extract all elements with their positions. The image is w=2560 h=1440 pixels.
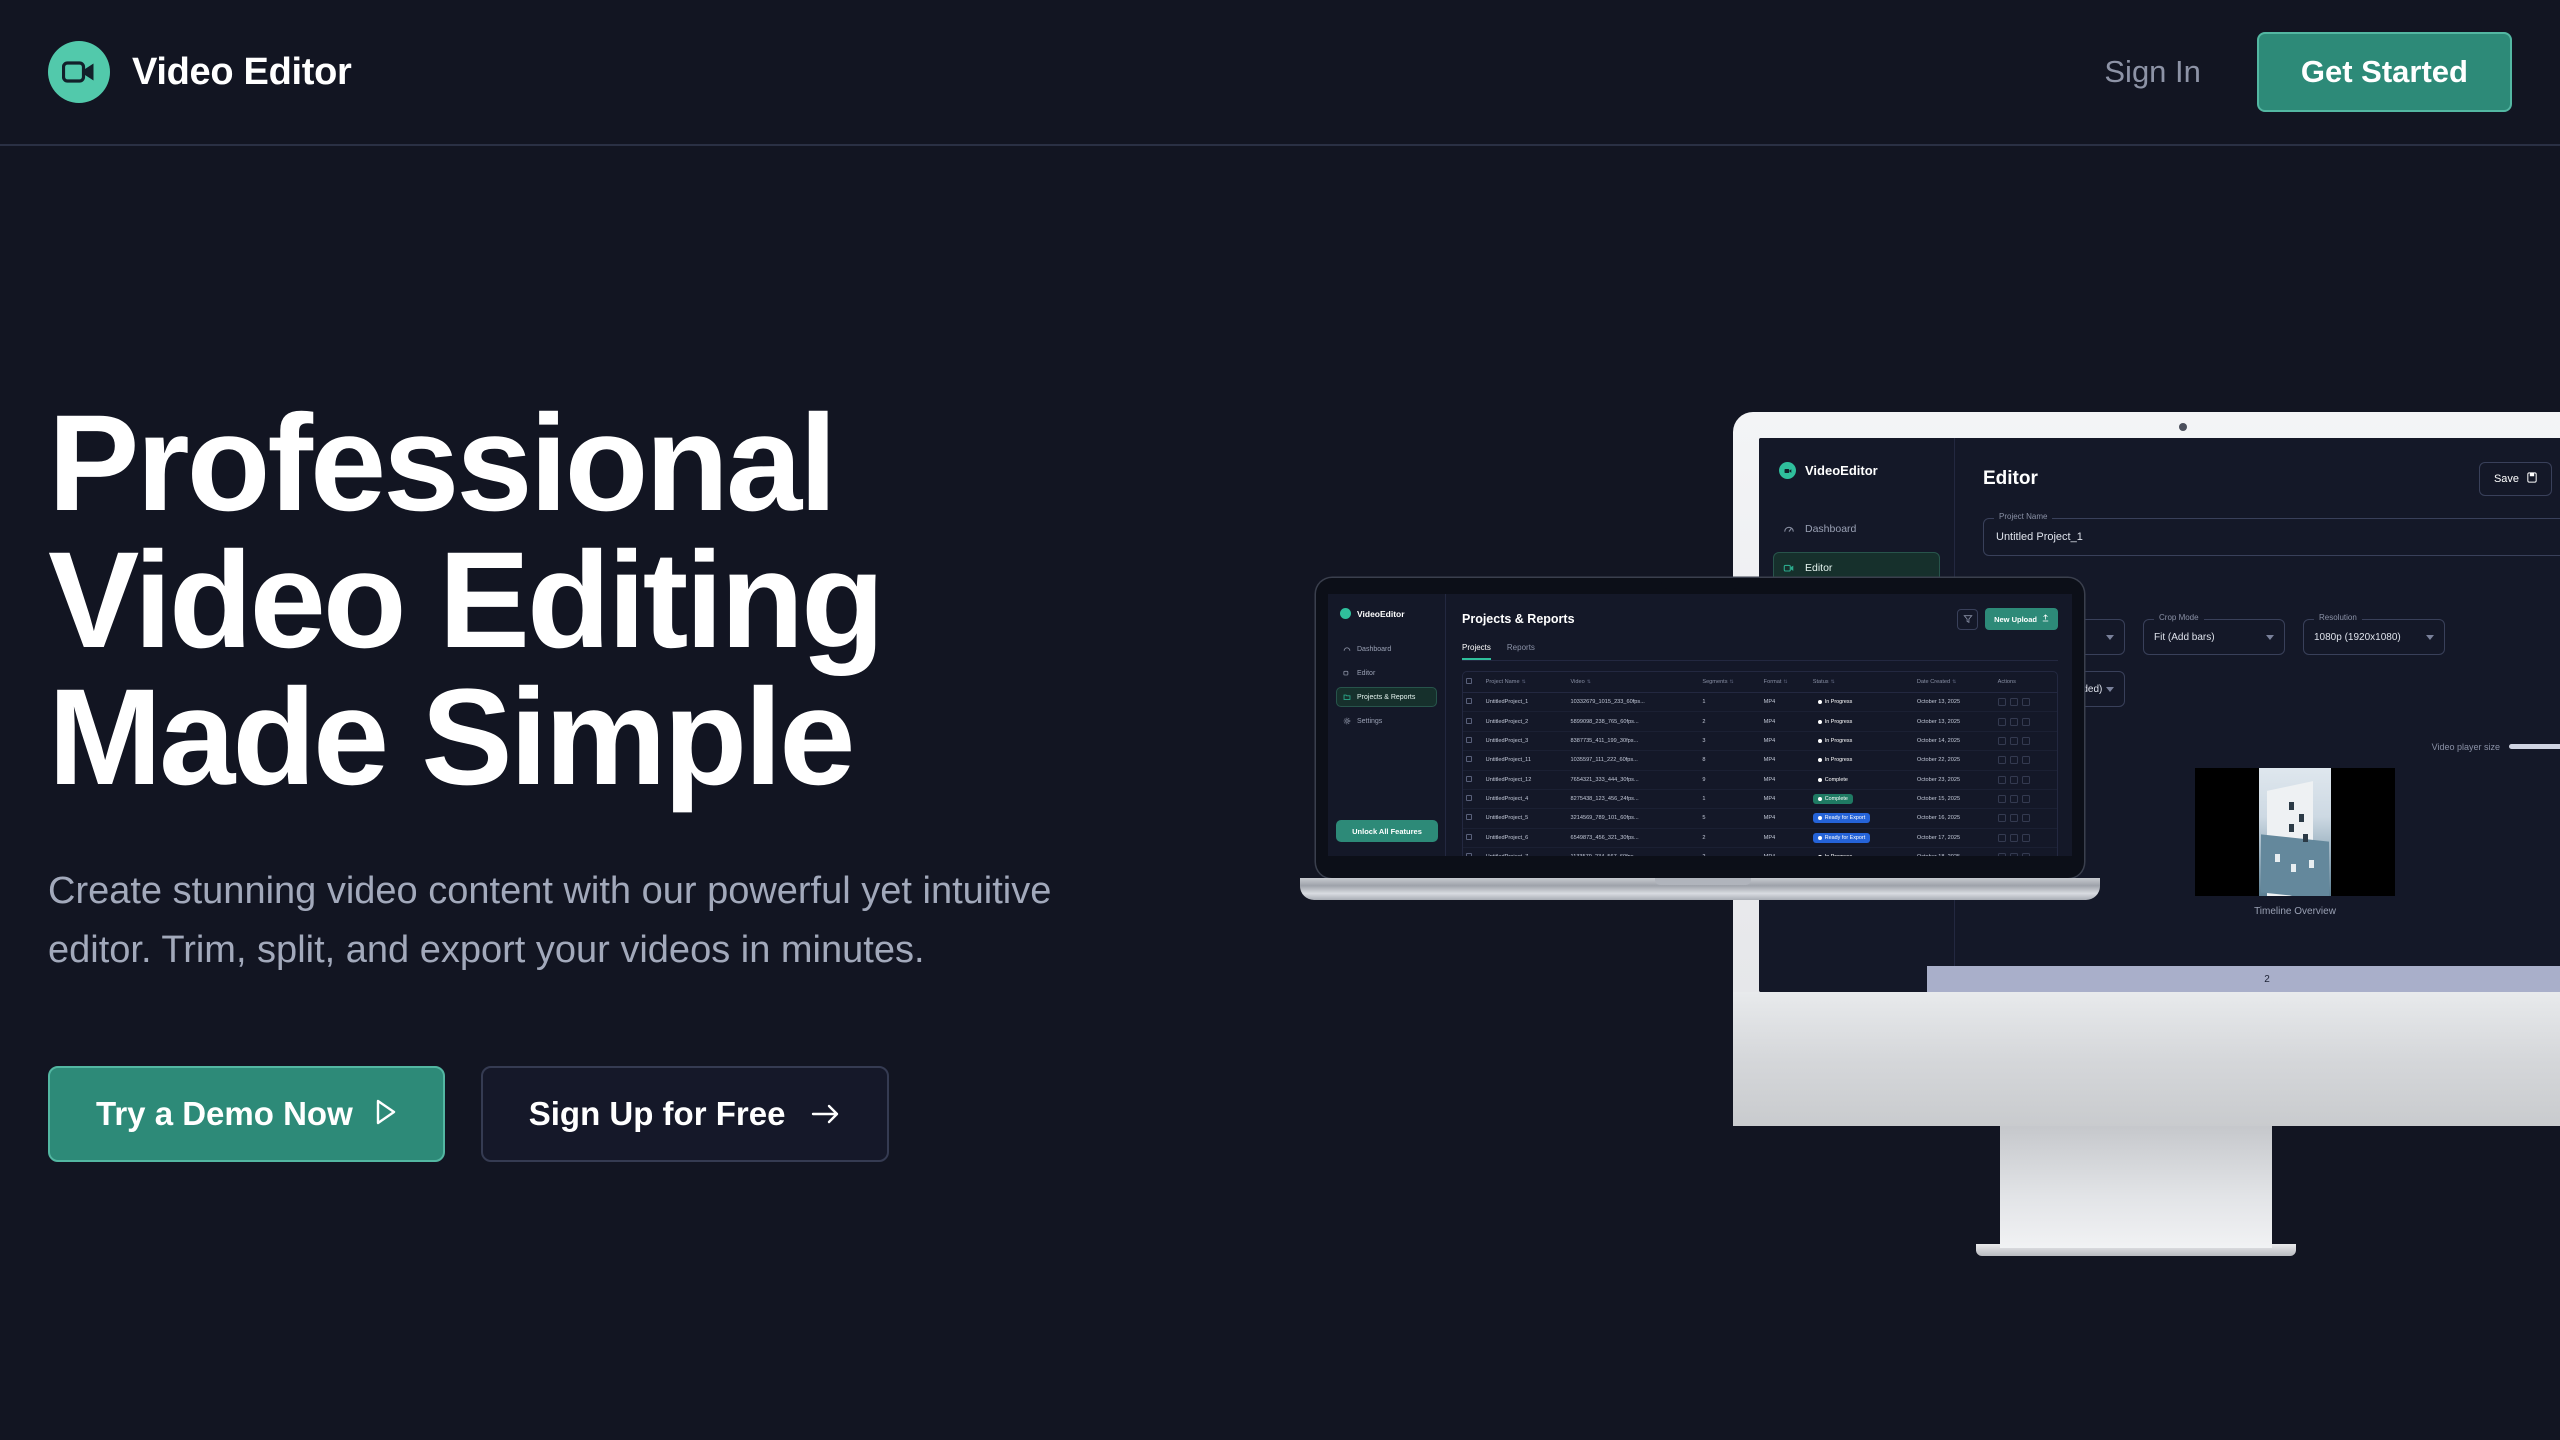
row-checkbox-cell[interactable] bbox=[1463, 828, 1483, 847]
app-brand-name: VideoEditor bbox=[1805, 463, 1878, 478]
sidebar-label: Dashboard bbox=[1357, 646, 1391, 653]
video-icon bbox=[1783, 562, 1795, 574]
cell-status: In Progress bbox=[1810, 712, 1914, 731]
brand-name: Video Editor bbox=[132, 51, 352, 94]
cell-video: 3214569_789_101_60fps... bbox=[1568, 809, 1700, 828]
cell-status: Ready for Export bbox=[1810, 828, 1914, 847]
project-name-value: Untitled Project_1 bbox=[1996, 531, 2083, 543]
arrow-right-icon bbox=[811, 1095, 841, 1133]
cell-date-created: October 23, 2025 bbox=[1914, 770, 1995, 789]
cell-actions bbox=[1995, 828, 2057, 847]
download-icon[interactable] bbox=[2010, 718, 2018, 726]
sort-icon[interactable]: ⇅ bbox=[1522, 679, 1526, 685]
sign-in-link[interactable]: Sign In bbox=[2104, 54, 2201, 90]
cell-status: Ready for Export bbox=[1810, 809, 1914, 828]
column-header[interactable]: Actions bbox=[1995, 672, 2057, 693]
save-button[interactable]: Save bbox=[2479, 462, 2552, 496]
app-logo: VideoEditor bbox=[1336, 608, 1437, 619]
cell-project-name: UntitledProject_7 bbox=[1483, 848, 1568, 857]
cell-date-created: October 14, 2025 bbox=[1914, 731, 1995, 750]
row-checkbox-cell[interactable] bbox=[1463, 809, 1483, 828]
sort-icon[interactable]: ⇅ bbox=[1783, 679, 1787, 685]
status-badge: In Progress bbox=[1813, 697, 1858, 707]
landing-page: Video Editor Sign In Get Started Profess… bbox=[0, 0, 2560, 1440]
cell-segments: 3 bbox=[1699, 731, 1760, 750]
status-badge: Ready for Export bbox=[1813, 833, 1870, 843]
get-started-button[interactable]: Get Started bbox=[2257, 32, 2512, 112]
sidebar-label: Editor bbox=[1357, 670, 1375, 677]
page-number[interactable]: 2 bbox=[1927, 966, 2560, 992]
projects-page-title: Projects & Reports bbox=[1462, 612, 1575, 626]
cell-actions bbox=[1995, 848, 2057, 857]
edit-icon[interactable] bbox=[1998, 737, 2006, 745]
row-checkbox[interactable] bbox=[1466, 698, 1472, 704]
delete-icon[interactable] bbox=[2022, 834, 2030, 842]
laptop-sidebar: VideoEditor Dashboard Edit bbox=[1328, 594, 1446, 856]
device-mockups: VideoEditor Dashboard Edi bbox=[1300, 330, 2560, 1230]
row-checkbox-cell[interactable] bbox=[1463, 751, 1483, 770]
cell-project-name: UntitledProject_4 bbox=[1483, 789, 1568, 808]
cell-date-created: October 15, 2025 bbox=[1914, 789, 1995, 808]
chevron-down-icon bbox=[2426, 635, 2434, 640]
laptop-main: Projects & Reports New Upload bbox=[1446, 594, 2072, 856]
brand[interactable]: Video Editor bbox=[48, 41, 352, 103]
sidebar-item-dashboard[interactable]: Dashboard bbox=[1773, 513, 1940, 545]
cell-format: MP4 bbox=[1761, 712, 1810, 731]
try-demo-button[interactable]: Try a Demo Now bbox=[48, 1066, 445, 1162]
cell-video: 1035597_111_222_60fps... bbox=[1568, 751, 1700, 770]
laptop-top-actions: New Upload bbox=[1957, 608, 2058, 630]
laptop-trackpad-notch bbox=[1655, 878, 1751, 885]
cell-actions bbox=[1995, 731, 2057, 750]
download-icon[interactable] bbox=[2010, 853, 2018, 856]
video-icon bbox=[1343, 669, 1351, 677]
resolution-select[interactable]: Resolution 1080p (1920x1080) bbox=[2303, 619, 2445, 655]
sort-icon[interactable]: ⇅ bbox=[1952, 679, 1956, 685]
tab-projects[interactable]: Projects bbox=[1462, 643, 1491, 660]
try-demo-label: Try a Demo Now bbox=[96, 1095, 353, 1133]
hero-section: Professional Video Editing Made Simple C… bbox=[48, 395, 1198, 1162]
cell-status: In Progress bbox=[1810, 848, 1914, 857]
app-brand-name: VideoEditor bbox=[1357, 609, 1405, 619]
cell-segments: 2 bbox=[1699, 712, 1760, 731]
table-row[interactable]: UntitledProject_71133579_234_567_60fps..… bbox=[1463, 848, 2057, 857]
cell-video: 8275438_123_456_24fps... bbox=[1568, 789, 1700, 808]
projects-table: Project Name⇅Video⇅Segments⇅Format⇅Statu… bbox=[1462, 671, 2058, 856]
download-icon[interactable] bbox=[2010, 737, 2018, 745]
select-all-checkbox[interactable] bbox=[1466, 678, 1472, 684]
player-size-label: Video player size bbox=[2432, 742, 2500, 752]
cell-date-created: October 18, 2025 bbox=[1914, 848, 1995, 857]
table-row[interactable]: UntitledProject_127654321_333_444_30fps.… bbox=[1463, 770, 2057, 789]
heading-line-2: Video Editing bbox=[48, 532, 1198, 669]
edit-icon[interactable] bbox=[1998, 718, 2006, 726]
save-label: Save bbox=[2494, 473, 2519, 485]
laptop-lid: VideoEditor Dashboard Edit bbox=[1316, 578, 2084, 878]
sidebar-label: Dashboard bbox=[1805, 523, 1856, 535]
row-checkbox[interactable] bbox=[1466, 795, 1472, 801]
status-badge: In Progress bbox=[1813, 852, 1858, 856]
column-header[interactable] bbox=[1463, 672, 1483, 693]
row-checkbox-cell[interactable] bbox=[1463, 770, 1483, 789]
table-row[interactable]: UntitledProject_111035597_111_222_60fps.… bbox=[1463, 751, 2057, 770]
cell-video: 10332679_1015_233_60fps... bbox=[1568, 693, 1700, 712]
chevron-down-icon bbox=[2266, 635, 2274, 640]
cell-format: MP4 bbox=[1761, 751, 1810, 770]
cell-format: MP4 bbox=[1761, 809, 1810, 828]
sidebar-item-projects-reports[interactable]: Projects & Reports bbox=[1336, 687, 1437, 707]
hero-subtitle: Create stunning video content with our p… bbox=[48, 862, 1138, 980]
chevron-down-icon bbox=[2106, 687, 2114, 692]
edit-icon[interactable] bbox=[1998, 834, 2006, 842]
cell-date-created: October 16, 2025 bbox=[1914, 809, 1995, 828]
cell-actions bbox=[1995, 789, 2057, 808]
editor-top-actions: Save Exp bbox=[2479, 462, 2560, 496]
delete-icon[interactable] bbox=[2022, 795, 2030, 803]
video-camera-icon bbox=[1779, 462, 1796, 479]
download-icon[interactable] bbox=[2010, 698, 2018, 706]
sign-up-label: Sign Up for Free bbox=[529, 1095, 786, 1133]
cell-segments: 9 bbox=[1699, 770, 1760, 789]
column-header[interactable]: Project Name⇅ bbox=[1483, 672, 1568, 693]
cell-segments: 1 bbox=[1699, 789, 1760, 808]
cell-video: 6549873_456_321_30fps... bbox=[1568, 828, 1700, 847]
column-header[interactable]: Status⇅ bbox=[1810, 672, 1914, 693]
sort-icon[interactable]: ⇅ bbox=[1831, 679, 1835, 685]
edit-icon[interactable] bbox=[1998, 698, 2006, 706]
download-icon[interactable] bbox=[2010, 776, 2018, 784]
cell-status: In Progress bbox=[1810, 693, 1914, 712]
status-badge: In Progress bbox=[1813, 736, 1858, 746]
column-header[interactable]: Segments⇅ bbox=[1699, 672, 1760, 693]
site-header: Video Editor Sign In Get Started bbox=[0, 0, 2560, 146]
cell-date-created: October 13, 2025 bbox=[1914, 693, 1995, 712]
row-checkbox[interactable] bbox=[1466, 756, 1472, 762]
cell-status: Complete bbox=[1810, 770, 1914, 789]
cell-project-name: UntitledProject_11 bbox=[1483, 751, 1568, 770]
column-header[interactable]: Date Created⇅ bbox=[1914, 672, 1995, 693]
monitor-chin bbox=[1733, 978, 2560, 1126]
unlock-all-features-button[interactable]: Unlock All Features bbox=[1336, 820, 1438, 842]
row-checkbox-cell[interactable] bbox=[1463, 848, 1483, 857]
cell-project-name: UntitledProject_2 bbox=[1483, 712, 1568, 731]
sidebar-item-settings[interactable]: Settings bbox=[1336, 711, 1437, 731]
status-badge: Ready for Export bbox=[1813, 813, 1870, 823]
cell-actions bbox=[1995, 770, 2057, 789]
cell-video: 7654321_333_444_30fps... bbox=[1568, 770, 1700, 789]
edit-icon[interactable] bbox=[1998, 795, 2006, 803]
sidebar-label: Settings bbox=[1357, 718, 1382, 725]
row-checkbox-cell[interactable] bbox=[1463, 693, 1483, 712]
cell-project-name: UntitledProject_5 bbox=[1483, 809, 1568, 828]
tab-reports[interactable]: Reports bbox=[1507, 643, 1535, 660]
table-row[interactable]: UntitledProject_66549873_456_321_30fps..… bbox=[1463, 828, 2057, 847]
download-icon[interactable] bbox=[2010, 795, 2018, 803]
row-checkbox[interactable] bbox=[1466, 814, 1472, 820]
table-row[interactable]: UntitledProject_38387735_411_199_30fps..… bbox=[1463, 731, 2057, 750]
delete-icon[interactable] bbox=[2022, 756, 2030, 764]
edit-icon[interactable] bbox=[1998, 853, 2006, 856]
player-size-slider[interactable]: Video player size bbox=[2432, 742, 2560, 752]
editor-topbar: Editor Save Exp bbox=[1983, 462, 2560, 496]
chevron-down-icon bbox=[2106, 635, 2114, 640]
cell-actions bbox=[1995, 809, 2057, 828]
project-name-input[interactable]: Project Name Untitled Project_1 bbox=[1983, 518, 2560, 556]
resolution-value: 1080p (1920x1080) bbox=[2314, 632, 2401, 643]
cell-segments: 8 bbox=[1699, 751, 1760, 770]
video-camera-icon bbox=[1340, 608, 1351, 619]
laptop-topbar: Projects & Reports New Upload bbox=[1462, 608, 2058, 630]
laptop-notch bbox=[1661, 578, 1739, 589]
row-checkbox-cell[interactable] bbox=[1463, 712, 1483, 731]
edit-icon[interactable] bbox=[1998, 776, 2006, 784]
cell-actions bbox=[1995, 712, 2057, 731]
delete-icon[interactable] bbox=[2022, 853, 2030, 856]
column-header[interactable]: Video⇅ bbox=[1568, 672, 1700, 693]
table-header-row: Project Name⇅Video⇅Segments⇅Format⇅Statu… bbox=[1463, 672, 2057, 693]
sort-icon[interactable]: ⇅ bbox=[1730, 679, 1734, 685]
crop-mode-value: Fit (Add bars) bbox=[2154, 632, 2215, 643]
project-name-label: Project Name bbox=[1994, 512, 2052, 521]
cell-status: In Progress bbox=[1810, 751, 1914, 770]
cell-video: 1133579_234_567_60fps... bbox=[1568, 848, 1700, 857]
video-camera-icon bbox=[48, 41, 110, 103]
new-upload-label: New Upload bbox=[1994, 615, 2037, 624]
upload-icon bbox=[2042, 614, 2049, 624]
save-disk-icon bbox=[2527, 472, 2537, 486]
sidebar-item-dashboard[interactable]: Dashboard bbox=[1336, 639, 1437, 659]
page-title: Professional Video Editing Made Simple bbox=[48, 395, 1198, 806]
filter-funnel-icon[interactable] bbox=[1957, 609, 1978, 630]
cell-format: MP4 bbox=[1761, 848, 1810, 857]
table-row[interactable]: UntitledProject_25899098_238_765_60fps..… bbox=[1463, 712, 2057, 731]
status-badge: In Progress bbox=[1813, 717, 1858, 727]
download-icon[interactable] bbox=[2010, 756, 2018, 764]
cell-actions bbox=[1995, 693, 2057, 712]
cell-format: MP4 bbox=[1761, 693, 1810, 712]
delete-icon[interactable] bbox=[2022, 776, 2030, 784]
camera-dot-icon bbox=[2179, 423, 2187, 431]
table-row[interactable]: UntitledProject_53214569_789_101_60fps..… bbox=[1463, 809, 2057, 828]
gear-icon bbox=[1343, 717, 1351, 725]
sidebar-label: Projects & Reports bbox=[1357, 694, 1415, 701]
folder-icon bbox=[1343, 693, 1351, 701]
row-checkbox[interactable] bbox=[1466, 776, 1472, 782]
table-row[interactable]: UntitledProject_110332679_1015_233_60fps… bbox=[1463, 693, 2057, 712]
projects-tabs: Projects Reports bbox=[1462, 643, 2058, 661]
sidebar-label: Editor bbox=[1805, 562, 1832, 574]
cell-date-created: October 22, 2025 bbox=[1914, 751, 1995, 770]
cell-project-name: UntitledProject_3 bbox=[1483, 731, 1568, 750]
row-checkbox-cell[interactable] bbox=[1463, 789, 1483, 808]
cell-date-created: October 13, 2025 bbox=[1914, 712, 1995, 731]
row-checkbox[interactable] bbox=[1466, 834, 1472, 840]
status-badge: Complete bbox=[1813, 794, 1853, 804]
crop-mode-label: Crop Mode bbox=[2154, 613, 2204, 622]
row-checkbox[interactable] bbox=[1466, 853, 1472, 856]
new-upload-button[interactable]: New Upload bbox=[1985, 608, 2058, 630]
cell-segments: 2 bbox=[1699, 848, 1760, 857]
play-triangle-icon bbox=[375, 1095, 397, 1133]
cell-segments: 5 bbox=[1699, 809, 1760, 828]
sidebar-item-editor[interactable]: Editor bbox=[1336, 663, 1437, 683]
header-actions: Sign In Get Started bbox=[2104, 32, 2512, 112]
sort-icon[interactable]: ⇅ bbox=[1587, 679, 1591, 685]
slider-track[interactable] bbox=[2509, 744, 2560, 749]
cell-project-name: UntitledProject_12 bbox=[1483, 770, 1568, 789]
row-checkbox[interactable] bbox=[1466, 718, 1472, 724]
editor-page-title: Editor bbox=[1983, 468, 2038, 490]
cell-project-name: UntitledProject_6 bbox=[1483, 828, 1568, 847]
delete-icon[interactable] bbox=[2022, 698, 2030, 706]
cell-format: MP4 bbox=[1761, 789, 1810, 808]
cell-status: Complete bbox=[1810, 789, 1914, 808]
cell-format: MP4 bbox=[1761, 731, 1810, 750]
column-header[interactable]: Format⇅ bbox=[1761, 672, 1810, 693]
preview-building-image bbox=[2259, 768, 2331, 896]
table-body: UntitledProject_110332679_1015_233_60fps… bbox=[1463, 693, 2057, 857]
cell-date-created: October 17, 2025 bbox=[1914, 828, 1995, 847]
monitor-stand bbox=[2000, 1120, 2272, 1248]
edit-icon[interactable] bbox=[1998, 814, 2006, 822]
gauge-icon bbox=[1343, 645, 1351, 653]
cta-row: Try a Demo Now Sign Up for Free bbox=[48, 1066, 1198, 1162]
cell-status: In Progress bbox=[1810, 731, 1914, 750]
download-icon[interactable] bbox=[2010, 834, 2018, 842]
cell-format: MP4 bbox=[1761, 770, 1810, 789]
cell-segments: 1 bbox=[1699, 693, 1760, 712]
laptop-device: VideoEditor Dashboard Edit bbox=[1300, 578, 2100, 926]
cell-video: 8387735_411_199_30fps... bbox=[1568, 731, 1700, 750]
projects-app-screen: VideoEditor Dashboard Edit bbox=[1328, 594, 2072, 856]
row-checkbox-cell[interactable] bbox=[1463, 731, 1483, 750]
row-checkbox[interactable] bbox=[1466, 737, 1472, 743]
video-preview-frame[interactable] bbox=[2195, 768, 2395, 896]
cell-format: MP4 bbox=[1761, 828, 1810, 847]
delete-icon[interactable] bbox=[2022, 718, 2030, 726]
delete-icon[interactable] bbox=[2022, 814, 2030, 822]
sign-up-free-button[interactable]: Sign Up for Free bbox=[481, 1066, 890, 1162]
cell-video: 5899098_238_765_60fps... bbox=[1568, 712, 1700, 731]
heading-line-3: Made Simple bbox=[48, 669, 1198, 806]
crop-mode-select[interactable]: Crop Mode Fit (Add bars) bbox=[2143, 619, 2285, 655]
heading-line-1: Professional bbox=[48, 395, 1198, 532]
table-row[interactable]: UntitledProject_48275438_123_456_24fps..… bbox=[1463, 789, 2057, 808]
delete-icon[interactable] bbox=[2022, 737, 2030, 745]
download-icon[interactable] bbox=[2010, 814, 2018, 822]
app-logo: VideoEditor bbox=[1773, 462, 1940, 479]
status-badge: Complete bbox=[1813, 775, 1853, 785]
cell-segments: 2 bbox=[1699, 828, 1760, 847]
gauge-icon bbox=[1783, 523, 1795, 535]
resolution-label: Resolution bbox=[2314, 613, 2362, 622]
status-badge: In Progress bbox=[1813, 755, 1858, 765]
cell-actions bbox=[1995, 751, 2057, 770]
cell-project-name: UntitledProject_1 bbox=[1483, 693, 1568, 712]
edit-icon[interactable] bbox=[1998, 756, 2006, 764]
